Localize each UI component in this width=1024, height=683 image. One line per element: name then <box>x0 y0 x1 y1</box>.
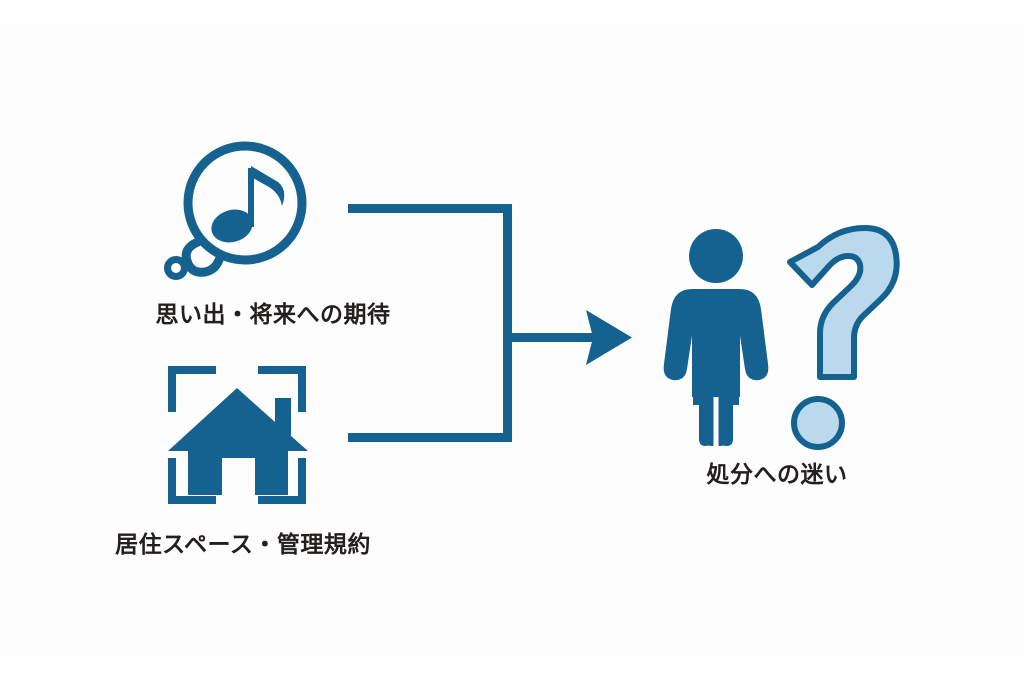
house-in-brackets-icon <box>160 360 320 520</box>
thought-bubble-music-note-icon <box>150 140 340 290</box>
node-disposal-doubt-label: 処分への迷い <box>652 455 902 489</box>
diagram-canvas: 思い出・将来への期待 居住スペース・管理規約 <box>0 0 1024 683</box>
node-living-space[interactable]: 居住スペース・管理規約 <box>160 360 320 520</box>
node-living-space-label: 居住スペース・管理規約 <box>103 525 383 559</box>
merge-arrow-icon <box>340 190 640 460</box>
node-disposal-doubt[interactable]: 処分への迷い <box>660 225 900 450</box>
person-with-question-mark-icon <box>660 225 900 450</box>
connector-merge-arrow <box>340 190 640 460</box>
node-memories[interactable]: 思い出・将来への期待 <box>150 140 340 290</box>
